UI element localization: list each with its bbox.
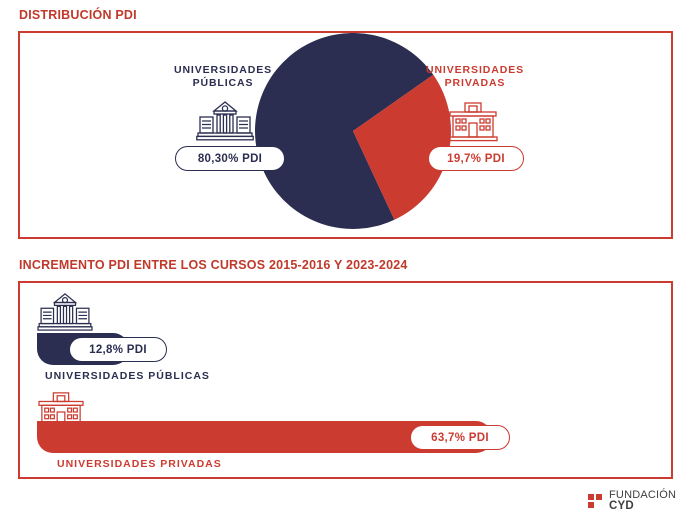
classical-university-building-icon	[196, 100, 254, 151]
pie-chart	[255, 33, 451, 229]
pie-label-publicas: UNIVERSIDADES PÚBLICAS	[168, 64, 278, 90]
bar-caption-privadas: UNIVERSIDADES PRIVADAS	[57, 458, 222, 470]
value-pill-privadas-increment: 63,7% PDI	[410, 425, 510, 450]
value-pill-privadas-distribution: 19,7% PDI	[428, 146, 524, 171]
section-title-increment: INCREMENTO PDI ENTRE LOS CURSOS 2015-201…	[19, 258, 408, 272]
bar-caption-publicas: UNIVERSIDADES PÚBLICAS	[45, 370, 210, 382]
logo-line-cyd: CYD	[609, 501, 676, 512]
modern-university-building-icon	[448, 100, 498, 151]
pie-label-privadas: UNIVERSIDADES PRIVADAS	[420, 64, 530, 90]
value-pill-publicas-increment: 12,8% PDI	[69, 337, 167, 362]
fundacion-cyd-logo: FUNDACIÓN CYD	[588, 490, 676, 512]
three-squares-logo-mark	[588, 494, 603, 508]
section-title-distribution: DISTRIBUCIÓN PDI	[19, 8, 137, 22]
value-pill-publicas-distribution: 80,30% PDI	[175, 146, 285, 171]
